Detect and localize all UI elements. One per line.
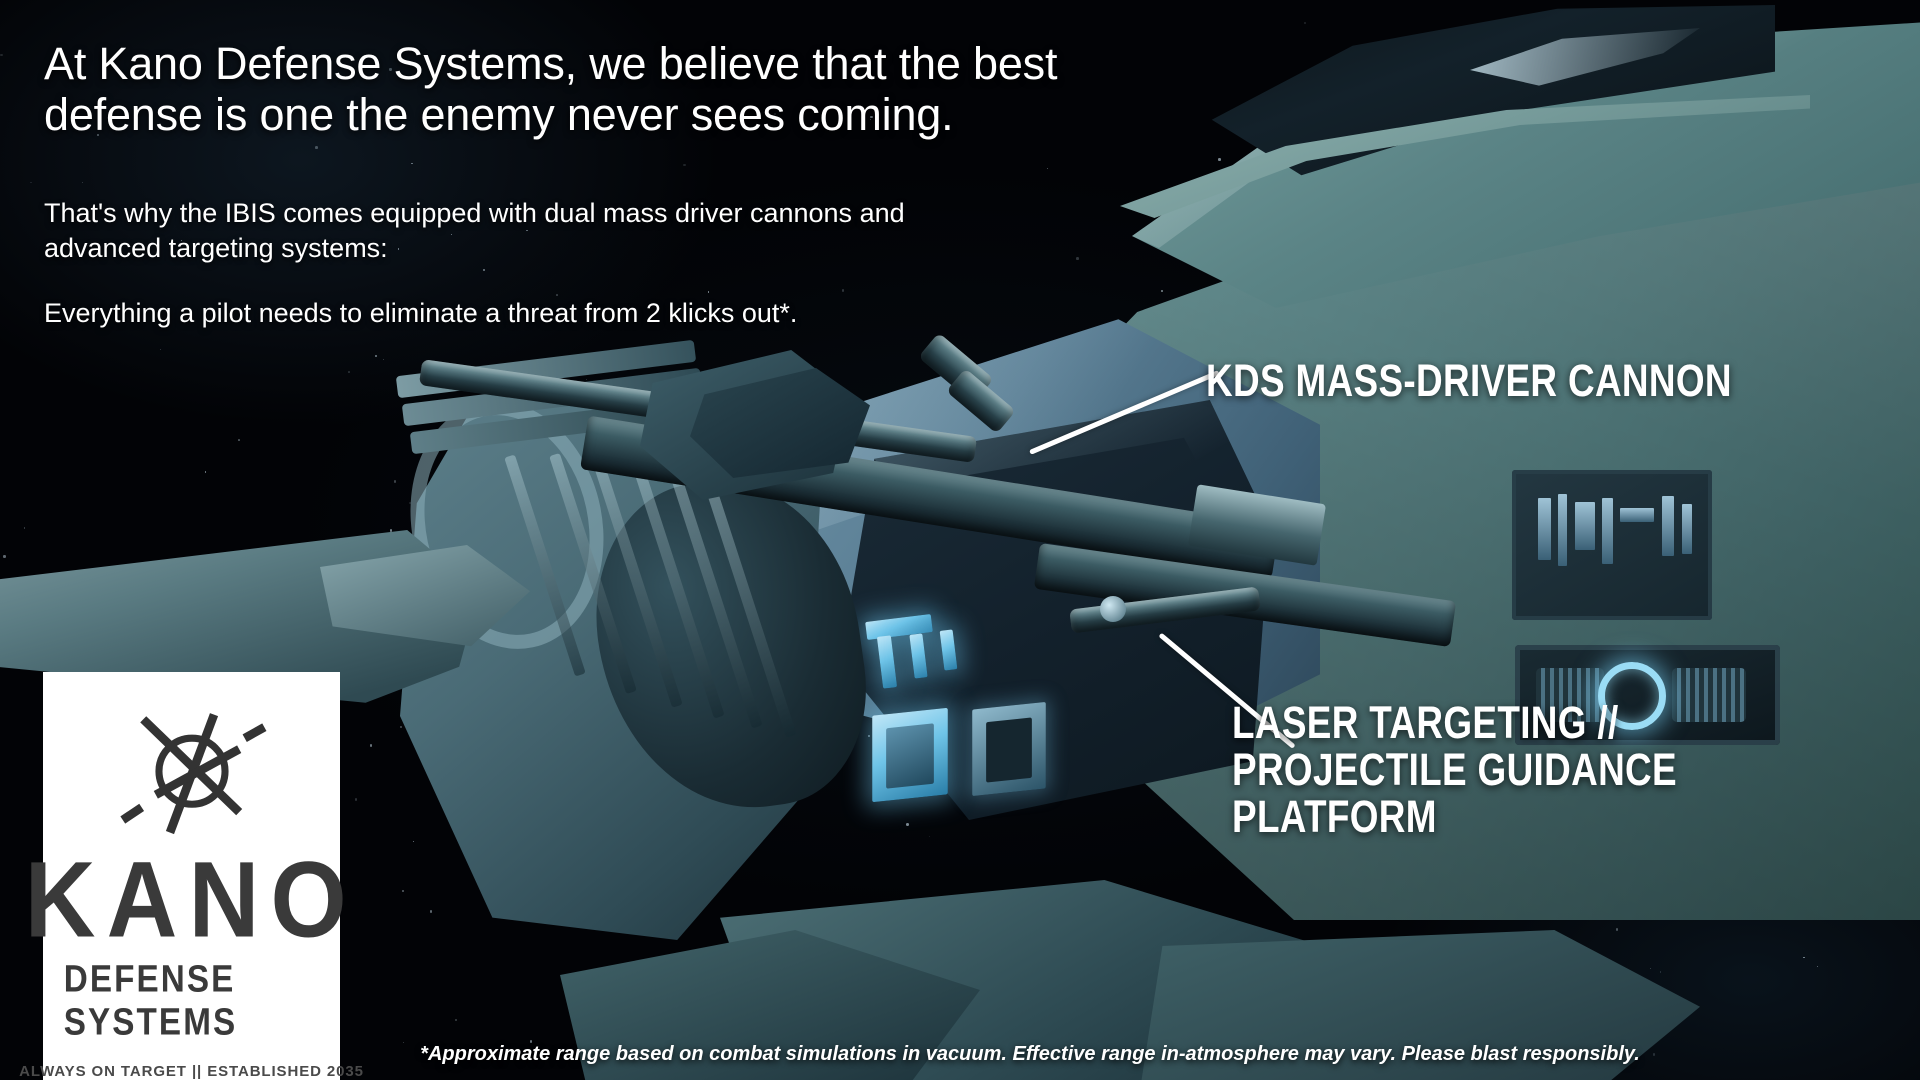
- ship-greeble: [1602, 498, 1613, 564]
- callout-label-cannon: KDS MASS-DRIVER CANNON: [1206, 358, 1732, 405]
- bay-glow-panel-left-inner: [886, 723, 934, 788]
- ship-greeble: [1538, 498, 1551, 560]
- targeting-emitter-node: [1100, 596, 1126, 622]
- logo-subtitle: DEFENSE SYSTEMS: [64, 958, 320, 1044]
- ship-greeble: [1575, 502, 1595, 550]
- ship-greeble: [1662, 496, 1674, 556]
- body-paragraph-2: Everything a pilot needs to eliminate a …: [44, 296, 944, 331]
- body-paragraph-1: That's why the IBIS comes equipped with …: [44, 196, 944, 265]
- ship-greeble: [1620, 508, 1654, 522]
- callout-label-targeting: LASER TARGETING // PROJECTILE GUIDANCE P…: [1232, 700, 1855, 840]
- kano-logo-block: KANO DEFENSE SYSTEMS ALWAYS ON TARGET ||…: [43, 672, 340, 1080]
- promotional-poster: At Kano Defense Systems, we believe that…: [0, 0, 1920, 1080]
- ship-greeble: [1682, 504, 1692, 554]
- bay-panel-right-inner: [986, 717, 1032, 782]
- headline: At Kano Defense Systems, we believe that…: [44, 38, 1224, 141]
- ship-greeble: [1558, 494, 1567, 566]
- crosshair-reticle-icon: [103, 702, 281, 839]
- logo-wordmark: KANO: [25, 849, 358, 952]
- logo-tagline: ALWAYS ON TARGET || ESTABLISHED 2035: [19, 1063, 364, 1080]
